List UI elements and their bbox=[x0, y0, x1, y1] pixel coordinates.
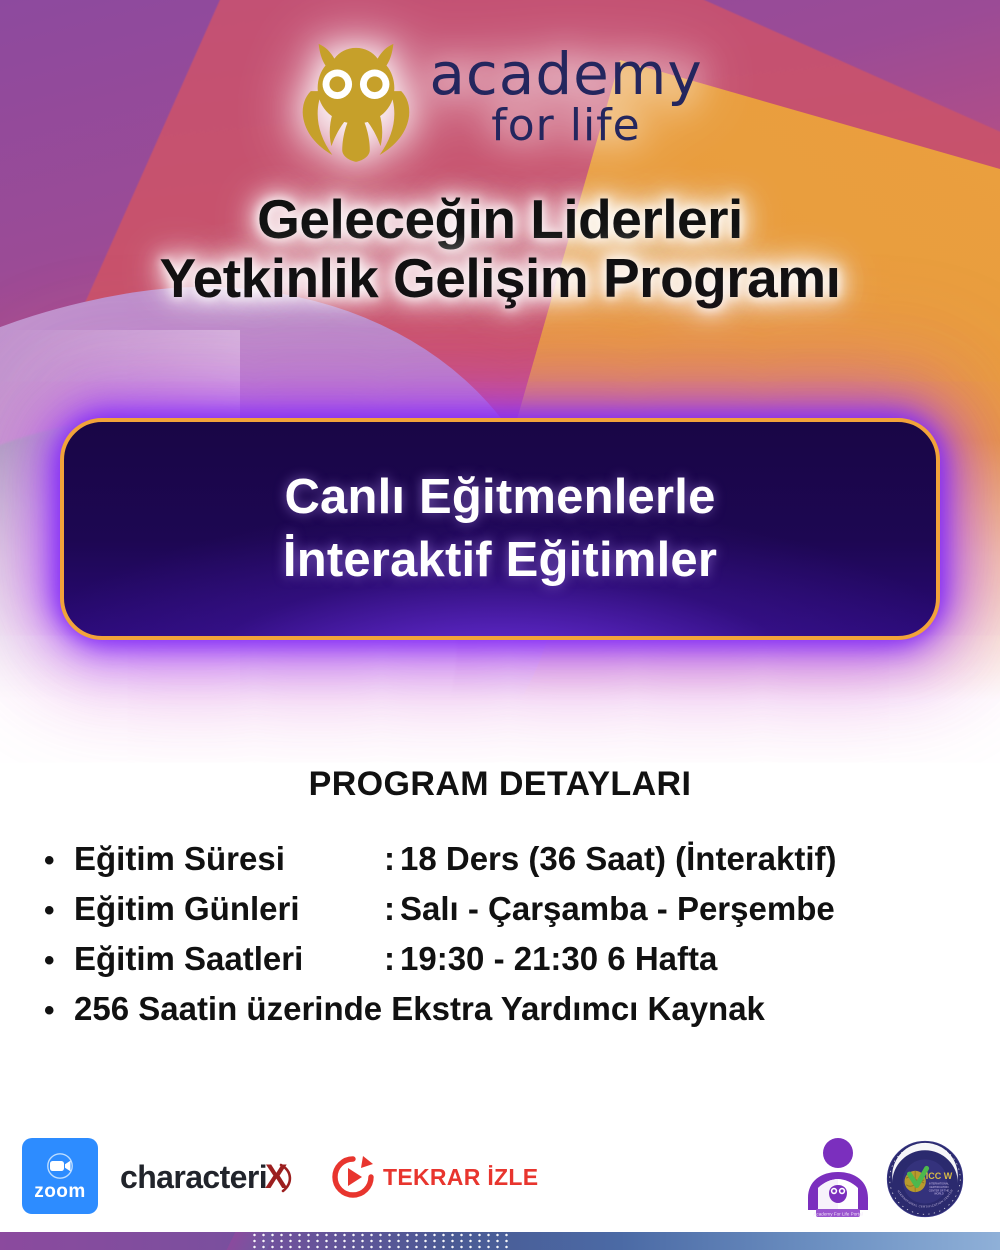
certified-seal-icon: CERTIFIED ICC W INTERNATIONAL CERTIFICAT… bbox=[884, 1138, 966, 1220]
brand-wordmark: academy for life bbox=[429, 47, 702, 147]
detail-value: 18 Ders (36 Saat) (İnteraktif) bbox=[400, 840, 837, 878]
list-item: • Eğitim Günleri : Salı - Çarşamba - Per… bbox=[44, 890, 974, 928]
bottom-strip-dot-pattern bbox=[250, 1232, 510, 1250]
highlight-line-1: Canlı Eğitmenlerle bbox=[284, 473, 715, 522]
list-item: • 256 Saatin üzerinde Ekstra Yardımcı Ka… bbox=[44, 990, 974, 1028]
detail-separator: : bbox=[384, 840, 400, 878]
video-camera-icon bbox=[40, 1153, 80, 1179]
brand-logo: academy for life bbox=[0, 22, 1000, 172]
characterix-logo: characteri X bbox=[120, 1158, 295, 1197]
detail-value: 19:30 - 21:30 6 Hafta bbox=[400, 940, 717, 978]
headline-line-1: Geleceğin Liderleri bbox=[257, 188, 743, 250]
headline-line-2: Yetkinlik Gelişim Programı bbox=[0, 249, 1000, 308]
detail-label: Eğitim Saatleri bbox=[74, 940, 384, 978]
detail-label: Eğitim Günleri bbox=[74, 890, 384, 928]
detail-label: Eğitim Süresi bbox=[74, 840, 384, 878]
page-title: Geleceğin Liderleri Yetkinlik Gelişim Pr… bbox=[0, 190, 1000, 309]
list-item: • Eğitim Süresi : 18 Ders (36 Saat) (İnt… bbox=[44, 840, 974, 878]
details-list: • Eğitim Süresi : 18 Ders (36 Saat) (İnt… bbox=[44, 840, 974, 1040]
zoom-label: zoom bbox=[34, 1181, 86, 1203]
list-item: • Eğitim Saatleri : 19:30 - 21:30 6 Haft… bbox=[44, 940, 974, 978]
characterix-text: characteri bbox=[120, 1159, 267, 1196]
bullet-icon: • bbox=[44, 846, 74, 876]
detail-label: 256 Saatin üzerinde Ekstra Yardımcı Kayn… bbox=[74, 990, 765, 1028]
poster: academy for life Geleceğin Liderleri Yet… bbox=[0, 0, 1000, 1250]
highlight-line-2: İnteraktif Eğitimler bbox=[283, 536, 717, 585]
replay-play-icon bbox=[330, 1154, 376, 1200]
tekrar-izle-logo: TEKRAR İZLE bbox=[330, 1154, 538, 1200]
detail-value: Salı - Çarşamba - Perşembe bbox=[400, 890, 835, 928]
seal-main-text: ICC W bbox=[926, 1171, 953, 1181]
zoom-logo: zoom bbox=[22, 1138, 98, 1214]
highlight-box: Canlı Eğitmenlerle İnteraktif Eğitimler bbox=[60, 418, 940, 640]
bottom-strip bbox=[0, 1232, 1000, 1250]
characterix-swoosh-icon bbox=[279, 1161, 295, 1195]
brand-name-line2: for life bbox=[429, 105, 702, 147]
detail-separator: : bbox=[384, 940, 400, 978]
detail-separator: : bbox=[384, 890, 400, 928]
person-badge-caption: Academy For Life Portal bbox=[813, 1211, 862, 1216]
highlight-box-panel: Canlı Eğitmenlerle İnteraktif Eğitimler bbox=[60, 418, 940, 640]
person-reading-owl-book-icon: Academy For Life Portal bbox=[800, 1136, 876, 1222]
footer-logos: zoom characteri X TEKRAR İZLE bbox=[0, 1128, 1000, 1228]
bullet-icon: • bbox=[44, 896, 74, 926]
owl-icon bbox=[297, 32, 415, 162]
seal-sub-text-4: WORLD bbox=[934, 1193, 944, 1196]
brand-name-line1: academy bbox=[429, 47, 702, 103]
bullet-icon: • bbox=[44, 996, 74, 1026]
bullet-icon: • bbox=[44, 946, 74, 976]
details-title: PROGRAM DETAYLARI bbox=[0, 765, 1000, 804]
tekrar-izle-label: TEKRAR İZLE bbox=[383, 1164, 538, 1191]
